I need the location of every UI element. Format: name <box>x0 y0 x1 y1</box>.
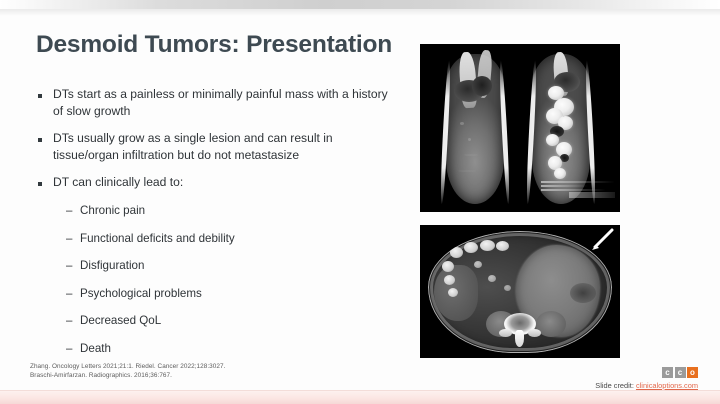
mri-limb-view-left <box>438 50 512 206</box>
sub-bullet-item: – Chronic pain <box>66 203 393 219</box>
sub-bullet-item: – Decreased QoL <box>66 313 393 329</box>
dash-bullet-icon: – <box>66 259 80 274</box>
bullet-item: DT can clinically lead to: <box>38 174 393 192</box>
ct-arrow-pointer-icon <box>588 228 614 254</box>
sub-bullet-text: Disfiguration <box>80 258 144 273</box>
sub-bullet-item: – Disfiguration <box>66 258 393 274</box>
presentation-slide: Desmoid Tumors: Presentation DTs start a… <box>0 0 720 404</box>
slide-credit: Slide credit: clinicaloptions.com <box>595 381 698 390</box>
slide-credit-link[interactable]: clinicaloptions.com <box>636 381 698 390</box>
square-bullet-icon <box>38 174 53 192</box>
ct-abdomen-cross-section <box>428 231 612 353</box>
cco-logo: c c o <box>662 367 698 378</box>
bullet-text: DTs usually grow as a single lesion and … <box>53 130 393 163</box>
sub-bullet-text: Death <box>80 341 111 356</box>
sub-bullet-text: Psychological problems <box>80 286 202 301</box>
cco-logo-tile-c1: c <box>662 367 673 378</box>
mri-coronal-limb-image <box>420 44 620 212</box>
viewer-top-chrome <box>0 0 720 9</box>
bullet-text: DT can clinically lead to: <box>53 174 183 191</box>
dash-bullet-icon: – <box>66 342 80 357</box>
sub-bullet-text: Chronic pain <box>80 203 145 218</box>
sub-bullet-item: – Psychological problems <box>66 286 393 302</box>
dash-bullet-icon: – <box>66 204 80 219</box>
slide-title: Desmoid Tumors: Presentation <box>36 31 392 59</box>
ct-axial-abdomen-image <box>420 225 620 358</box>
sub-bullet-list: – Chronic pain – Functional deficits and… <box>66 203 393 357</box>
slide-body: DTs start as a painless or minimally pai… <box>38 86 393 368</box>
square-bullet-icon <box>38 130 53 148</box>
viewer-top-chrome-fade <box>0 9 720 16</box>
slide-credit-label: Slide credit: <box>595 381 634 390</box>
dash-bullet-icon: – <box>66 287 80 302</box>
sub-bullet-item: – Functional deficits and debility <box>66 231 393 247</box>
dash-bullet-icon: – <box>66 314 80 329</box>
citation-line: Braschi-Amirfarzan. Radiographics. 2016;… <box>30 371 225 380</box>
bullet-item: DTs usually grow as a single lesion and … <box>38 130 393 163</box>
bullet-item: DTs start as a painless or minimally pai… <box>38 86 393 119</box>
bullet-text: DTs start as a painless or minimally pai… <box>53 86 393 119</box>
dash-bullet-icon: – <box>66 232 80 247</box>
sub-bullet-item: – Death <box>66 341 393 357</box>
ct-vertebra <box>500 313 540 347</box>
sub-bullet-text: Functional deficits and debility <box>80 231 235 246</box>
citations: Zhang. Oncology Letters 2021;21:1. Riede… <box>30 362 225 380</box>
cco-logo-tile-o: o <box>687 367 698 378</box>
citation-line: Zhang. Oncology Letters 2021;21:1. Riede… <box>30 362 225 371</box>
dicom-annotation-overlay <box>541 181 615 198</box>
cco-logo-tile-c2: c <box>675 367 686 378</box>
square-bullet-icon <box>38 86 53 104</box>
footer-strip <box>0 390 720 404</box>
sub-bullet-text: Decreased QoL <box>80 313 161 328</box>
